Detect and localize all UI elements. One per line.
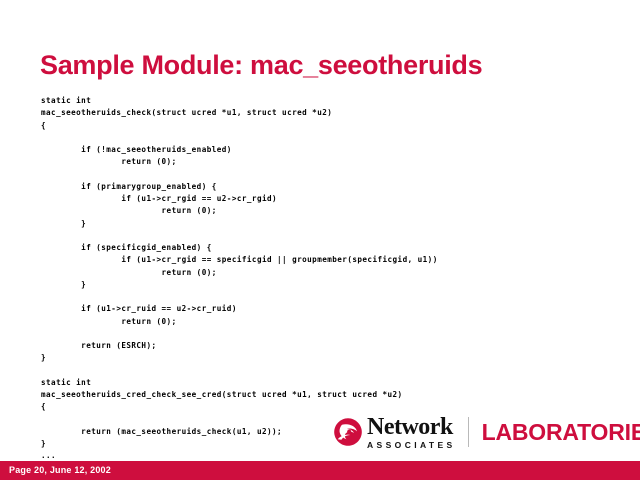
network-associates-wordmark: Network ASSOCIATES — [367, 415, 456, 450]
code-line: if (u1->cr_rgid == specificgid || groupm… — [41, 254, 601, 266]
code-line: if (u1->cr_ruid == u2->cr_ruid) — [41, 303, 601, 315]
footer-page-info: Page 20, June 12, 2002 — [9, 465, 111, 475]
code-line: { — [41, 120, 601, 132]
code-line: if (specificgid_enabled) { — [41, 242, 601, 254]
code-listing: static intmac_seeotheruids_check(struct … — [41, 95, 601, 463]
code-line — [41, 328, 601, 340]
code-line: return (0); — [41, 156, 601, 168]
code-line: return (ESRCH); — [41, 340, 601, 352]
code-line: static int — [41, 377, 601, 389]
footer-bar: Page 20, June 12, 2002 — [0, 461, 640, 480]
logo-divider — [468, 417, 469, 447]
code-line: if (!mac_seeotheruids_enabled) — [41, 144, 601, 156]
network-associates-swoosh-mark — [333, 417, 363, 447]
brand-name-network: Network — [367, 415, 456, 439]
code-line: } — [41, 279, 601, 291]
brand-name-associates: ASSOCIATES — [367, 441, 456, 450]
code-line: return (0); — [41, 205, 601, 217]
code-line — [41, 132, 601, 144]
code-line — [41, 169, 601, 181]
division-name-laboratories: LABORATORIES — [482, 421, 640, 444]
code-line: mac_seeotheruids_cred_check_see_cred(str… — [41, 389, 601, 401]
code-line: return (0); — [41, 316, 601, 328]
network-associates-laboratories-logo: Network ASSOCIATES LABORATORIES — [333, 412, 640, 452]
code-line: mac_seeotheruids_check(struct ucred *u1,… — [41, 107, 601, 119]
code-line: } — [41, 218, 601, 230]
code-line: if (u1->cr_rgid == u2->cr_rgid) — [41, 193, 601, 205]
code-line: } — [41, 352, 601, 364]
code-line — [41, 291, 601, 303]
code-line: static int — [41, 95, 601, 107]
code-line: return (0); — [41, 267, 601, 279]
page-title: Sample Module: mac_seeotheruids — [40, 50, 482, 81]
code-line: if (primarygroup_enabled) { — [41, 181, 601, 193]
code-line — [41, 230, 601, 242]
code-line — [41, 365, 601, 377]
